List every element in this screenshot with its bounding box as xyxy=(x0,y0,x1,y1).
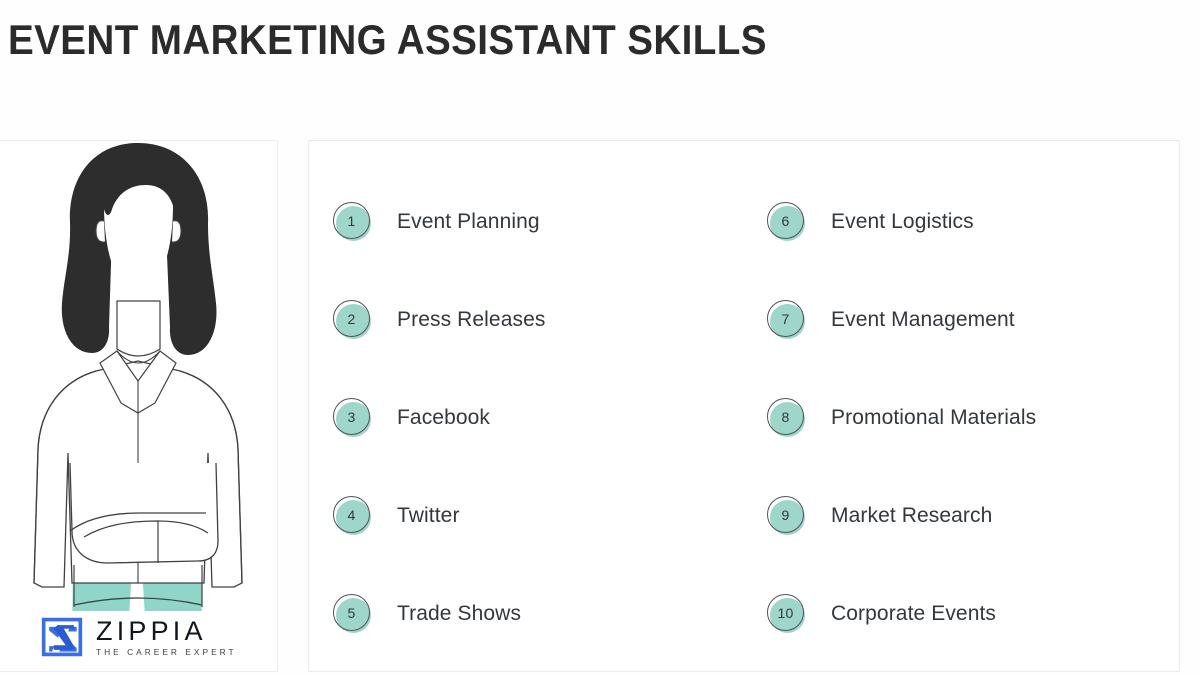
logo-text-block: ZIPPIA THE CAREER EXPERT xyxy=(96,617,237,658)
badge-number: 6 xyxy=(767,202,804,239)
skill-label: Promotional Materials xyxy=(831,405,1036,431)
skills-column-left: 1 Event Planning 2 Press Releases xyxy=(333,173,753,663)
skill-label: Market Research xyxy=(831,503,992,529)
skill-label: Event Planning xyxy=(397,209,540,235)
list-item[interactable]: 2 Press Releases xyxy=(333,271,753,369)
list-item[interactable]: 4 Twitter xyxy=(333,467,753,565)
skill-label: Event Management xyxy=(831,307,1015,333)
skill-number-badge: 9 xyxy=(767,496,807,536)
badge-number: 9 xyxy=(767,496,804,533)
list-item[interactable]: 5 Trade Shows xyxy=(333,565,753,663)
skill-number-badge: 7 xyxy=(767,300,807,340)
skill-number-badge: 3 xyxy=(333,398,373,438)
page-title: EVENT MARKETING ASSISTANT SKILLS xyxy=(8,14,767,66)
skills-panel: 1 Event Planning 2 Press Releases xyxy=(308,140,1180,672)
skill-label: Corporate Events xyxy=(831,601,996,627)
skill-label: Facebook xyxy=(397,405,490,431)
skill-label: Trade Shows xyxy=(397,601,521,627)
skill-number-badge: 10 xyxy=(767,594,807,634)
zippia-logo: ZIPPIA THE CAREER EXPERT xyxy=(38,611,243,663)
woman-line-art-illustration xyxy=(0,140,278,633)
badge-number: 2 xyxy=(333,300,370,337)
badge-number: 3 xyxy=(333,398,370,435)
skill-number-badge: 8 xyxy=(767,398,807,438)
skill-number-badge: 1 xyxy=(333,202,373,242)
badge-number: 7 xyxy=(767,300,804,337)
list-item[interactable]: 9 Market Research xyxy=(767,467,1187,565)
badge-number: 10 xyxy=(767,594,804,631)
skill-label: Press Releases xyxy=(397,307,545,333)
skill-label: Twitter xyxy=(397,503,460,529)
illustration-panel xyxy=(0,140,278,672)
badge-number: 8 xyxy=(767,398,804,435)
list-item[interactable]: 8 Promotional Materials xyxy=(767,369,1187,467)
logo-tagline: THE CAREER EXPERT xyxy=(96,646,237,658)
zippia-z-mark-icon xyxy=(40,615,84,659)
infographic-canvas: EVENT MARKETING ASSISTANT SKILLS xyxy=(0,0,1200,675)
skill-label: Event Logistics xyxy=(831,209,974,235)
badge-number: 4 xyxy=(333,496,370,533)
list-item[interactable]: 7 Event Management xyxy=(767,271,1187,369)
badge-number: 1 xyxy=(333,202,370,239)
skills-grid: 1 Event Planning 2 Press Releases xyxy=(309,141,1179,671)
list-item[interactable]: 3 Facebook xyxy=(333,369,753,467)
skill-number-badge: 5 xyxy=(333,594,373,634)
skill-number-badge: 6 xyxy=(767,202,807,242)
badge-number: 5 xyxy=(333,594,370,631)
logo-wordmark: ZIPPIA xyxy=(96,617,237,645)
list-item[interactable]: 1 Event Planning xyxy=(333,173,753,271)
list-item[interactable]: 6 Event Logistics xyxy=(767,173,1187,271)
skills-column-right: 6 Event Logistics 7 Event Management xyxy=(767,173,1187,663)
skill-number-badge: 2 xyxy=(333,300,373,340)
list-item[interactable]: 10 Corporate Events xyxy=(767,565,1187,663)
skill-number-badge: 4 xyxy=(333,496,373,536)
